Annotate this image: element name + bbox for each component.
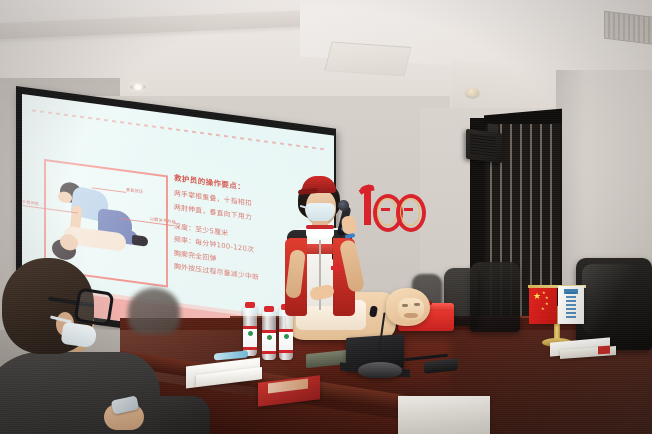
conference-microphone-base[interactable] xyxy=(358,362,402,378)
logo-gold-ring-second xyxy=(400,198,420,226)
national-flag: ★ ★ ★ ★ ★ xyxy=(529,288,557,324)
flag-star-small-4: ★ xyxy=(541,307,545,311)
logo-bar-second xyxy=(404,208,413,211)
water-bottle-cap xyxy=(264,306,274,312)
audience-glasses-lens xyxy=(74,287,115,326)
flag-star-small-2: ★ xyxy=(545,296,549,300)
presenter-hand-right xyxy=(341,215,357,235)
logo-digit-one xyxy=(364,191,371,225)
presenter-collar-trim xyxy=(306,225,334,229)
flag-star-small-3: ★ xyxy=(545,302,549,306)
smoke-detector-icon xyxy=(466,88,479,97)
water-bottle-label xyxy=(262,330,276,354)
logo-bar-first xyxy=(381,208,390,211)
downlight-icon xyxy=(130,84,146,90)
water-bottle-label-mark xyxy=(284,334,289,339)
flag-star-large: ★ xyxy=(533,293,541,302)
company-flag-text xyxy=(566,292,576,318)
water-bottle-label xyxy=(279,329,293,353)
office-chair-right-highlight xyxy=(582,264,638,334)
logo-sickle-blade xyxy=(359,183,374,193)
photo-scene: 垂直按压 手臂伸直 以髋关节为轴 救护员的操作要点： 两手掌根重叠，十指相扣 两… xyxy=(0,0,652,434)
cpr-manikin-eye-left xyxy=(402,304,408,307)
ceiling-recessed-panel xyxy=(324,41,411,76)
red-marker-item xyxy=(598,346,610,355)
cpr-manikin-eye-right xyxy=(414,303,420,306)
water-bottle-cap xyxy=(245,302,255,308)
red-cross-logo-icon xyxy=(331,262,343,274)
red-cross-horizontal xyxy=(331,266,343,270)
water-bottle-label-mark xyxy=(267,335,272,340)
audience-head-blurred xyxy=(128,288,180,334)
speaker-grille-icon xyxy=(470,133,496,158)
water-bottle-label xyxy=(243,326,257,350)
microphone-head-icon xyxy=(338,200,349,211)
water-bottle-label-mark xyxy=(248,331,253,336)
cpr-manikin-mouth xyxy=(404,313,418,318)
centenary-logo-100 xyxy=(358,183,424,227)
table-papers-bottom-right xyxy=(398,396,490,434)
logo-gold-ring-first xyxy=(377,198,397,226)
